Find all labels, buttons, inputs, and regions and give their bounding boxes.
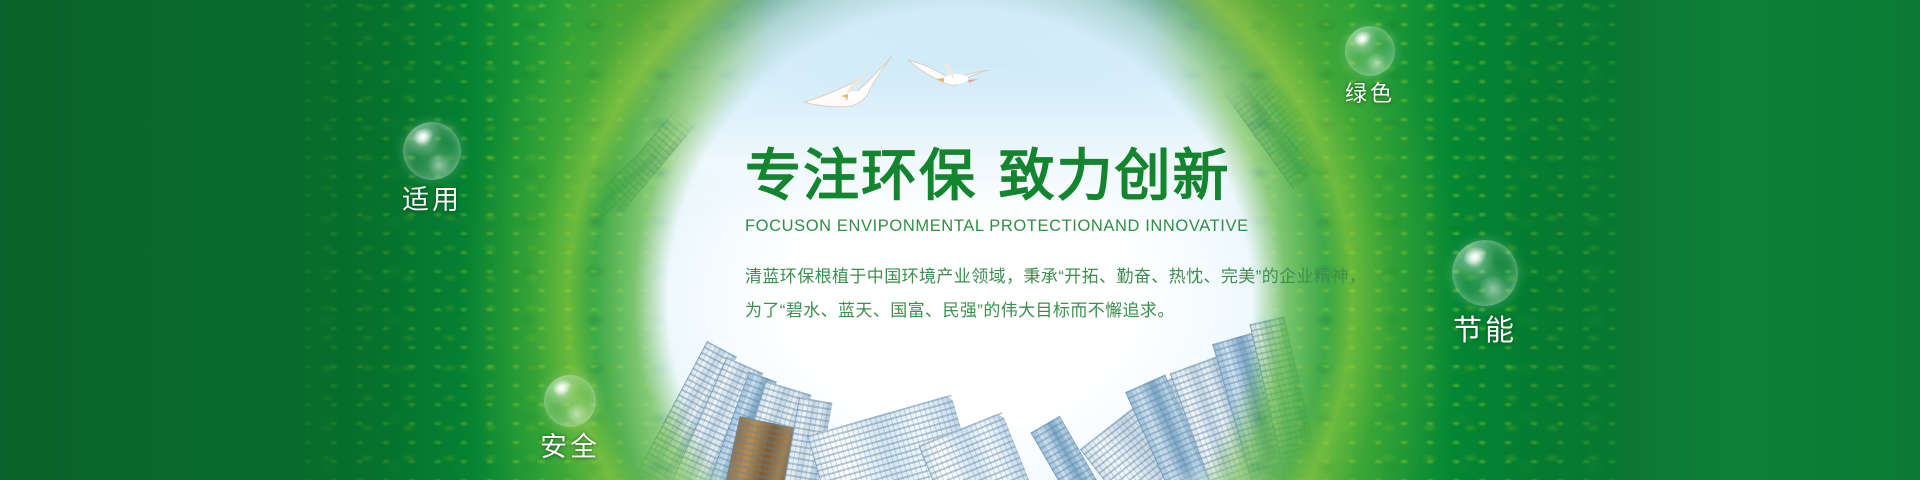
bubble-icon [544,375,596,427]
feature-bubble-lvse: 绿色 [1300,26,1440,106]
feature-bubble-anquan: 安全 [500,375,640,463]
bubble-icon [403,122,461,180]
feature-bubble-shiyong: 适用 [362,122,502,216]
body-copy: 清蓝环保根植于中国环境产业领域，秉承“开拓、勤奋、热忱、完美”的企业精神， 为了… [745,260,1305,328]
feature-label: 适用 [362,186,502,216]
bubble-icon [1452,240,1518,306]
copy-block: 专注环保 致力创新 FOCUSON ENVIPONMENTAL PROTECTI… [745,148,1305,328]
body-line: 清蓝环保根植于中国环境产业领域，秉承“开拓、勤奋、热忱、完美”的企业精神， [745,260,1305,294]
left-edge-vignette [0,0,520,480]
feature-label: 节能 [1410,316,1560,348]
headline: 专注环保 致力创新 [745,148,1305,207]
seagull-icon [900,34,1010,94]
bubble-icon [1345,26,1395,76]
subheadline: FOCUSON ENVIPONMENTAL PROTECTIONAND INNO… [745,217,1305,236]
body-line: 为了“碧水、蓝天、国富、民强”的伟大目标而不懈追求。 [745,294,1305,328]
feature-label: 绿色 [1300,82,1440,106]
feature-label: 安全 [500,433,640,463]
feature-bubble-jieneng: 节能 [1410,240,1560,348]
eco-promo-banner: 适用 安全 绿色 节能 专注环保 致力创新 FOCUSON ENVIPONMEN… [0,0,1920,480]
